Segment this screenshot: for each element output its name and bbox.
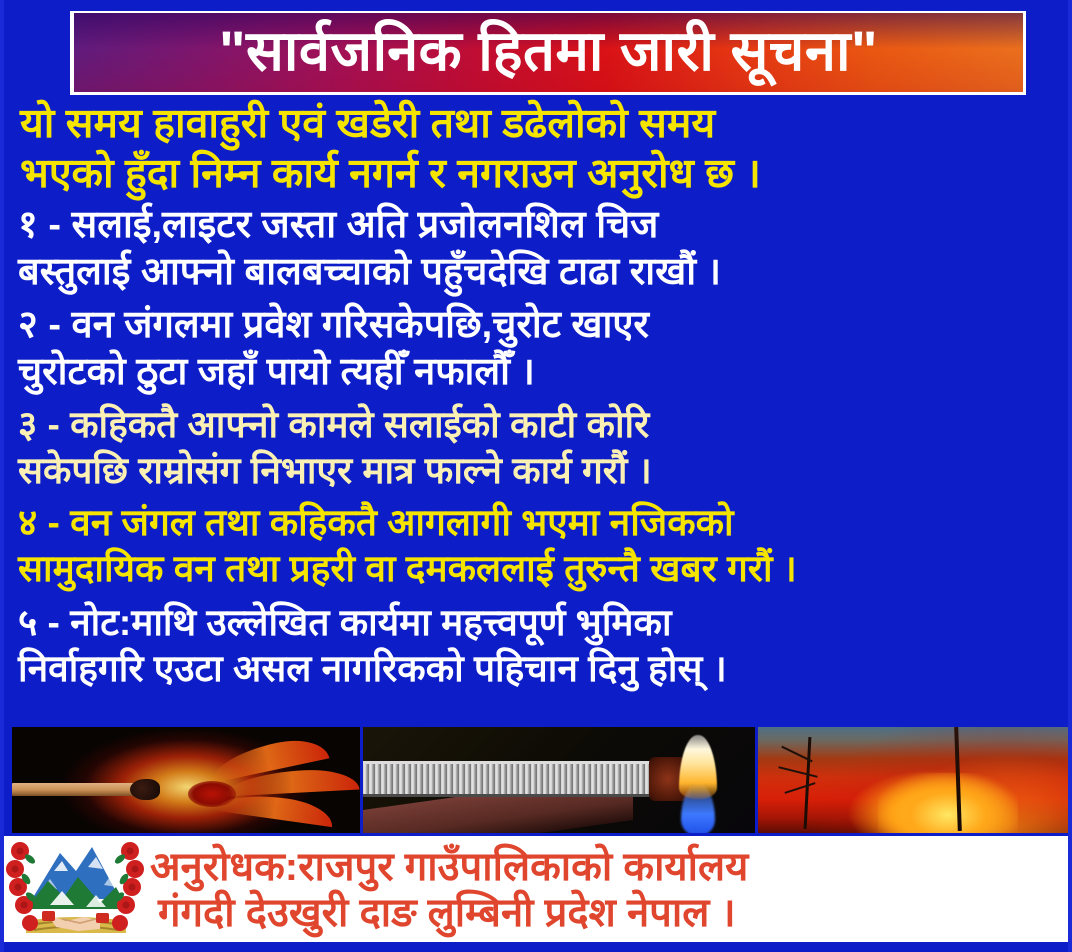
match-head-shape <box>130 779 160 800</box>
title-banner: "सार्वजनिक हितमा जारी सूचना" <box>74 13 1023 92</box>
intro-line-1: यो समय हावाहुरी एवं खडेरी तथा डढेलोको सम… <box>20 98 1068 148</box>
page-title: "सार्वजनिक हितमा जारी सूचना" <box>219 23 878 79</box>
public-notice-poster: "सार्वजनिक हितमा जारी सूचना" यो समय हावा… <box>0 0 1072 952</box>
burning-match-photo <box>12 727 360 833</box>
footer-line-1: अनुरोधक:राजपुर गाउँपालिकाको कार्यालय <box>150 844 1070 890</box>
title-banner-frame: "सार्वजनिक हितमा जारी सूचना" <box>70 11 1026 95</box>
notice-item-3-line-1: ३ - कहिकतै आफ्नो कामले सलाईको काटी कोरि <box>18 402 1068 448</box>
notice-item-5: ५ - नोट:माथि उल्लेखित कार्यमा महत्त्वपूर… <box>12 600 1068 692</box>
notice-item-5-line-1: ५ - नोट:माथि उल्लेखित कार्यमा महत्त्वपूर… <box>18 600 1068 646</box>
match-stick-shape <box>12 783 140 796</box>
lighter-flame-photo <box>360 727 755 833</box>
notice-item-3-line-2: सकेपछि राम्रोसंग निभाएर मात्र फाल्ने कार… <box>18 448 1068 494</box>
notice-item-2: २ - वन जंगलमा प्रवेश गरिसकेपछि,चुरोट खाए… <box>12 302 1068 396</box>
notice-item-2-line-2: चुरोटको ठुटा जहाँ पायो त्यहीँ नफालौँ । <box>18 349 1068 396</box>
footer-office-text: अनुरोधक:राजपुर गाउँपालिकाको कार्यालय गंग… <box>146 844 1072 937</box>
lighter-body-shape <box>363 761 663 797</box>
intro-line-2: भएको हुँदा निम्न कार्य नगर्न र नगराउन अन… <box>20 148 1068 198</box>
notice-item-1-line-1: १ - सलाई,लाइटर जस्ता अति प्रजोलनशिल चिज <box>18 202 1068 249</box>
notice-item-3: ३ - कहिकतै आफ्नो कामले सलाईको काटी कोरि … <box>12 402 1068 494</box>
intro-paragraph: यो समय हावाहुरी एवं खडेरी तथा डढेलोको सम… <box>12 98 1068 198</box>
notice-body: यो समय हावाहुरी एवं खडेरी तथा डढेलोको सम… <box>4 98 1072 726</box>
notice-item-5-line-2: निर्वाहगरि एउटा असल नागरिकको पहिचान दिनु… <box>18 646 1068 692</box>
footer: अनुरोधक:राजपुर गाउँपालिकाको कार्यालय गंग… <box>4 836 1072 944</box>
notice-item-4-line-1: ४ - वन जंगल तथा कहिकतै आगलागी भएमा नजिकक… <box>18 500 1068 546</box>
bottom-border-bar <box>4 942 1072 952</box>
forest-fire-photo <box>755 727 1068 833</box>
tree-branch-shape <box>778 766 817 778</box>
orange-flame-shape <box>679 735 717 799</box>
notice-item-1: १ - सलाई,लाइटर जस्ता अति प्रजोलनशिल चिज … <box>12 202 1068 296</box>
tree-branch-shape <box>784 782 815 794</box>
photo-strip <box>12 727 1068 833</box>
notice-item-4: ४ - वन जंगल तथा कहिकतै आगलागी भएमा नजिकक… <box>12 500 1068 592</box>
notice-item-4-line-2: सामुदायिक वन तथा प्रहरी वा दमकललाई तुरुन… <box>18 546 1068 592</box>
fire-glow-shape <box>878 773 1018 833</box>
nepal-government-emblem-icon <box>4 837 146 943</box>
notice-item-1-line-2: बस्तुलाई आफ्नो बालबच्चाको पहुँचदेखि टाढा… <box>18 249 1068 296</box>
notice-item-2-line-1: २ - वन जंगलमा प्रवेश गरिसकेपछि,चुरोट खाए… <box>18 302 1068 349</box>
footer-line-2: गंगदी देउखुरी दाङ लुम्बिनी प्रदेश नेपाल … <box>150 890 1070 936</box>
